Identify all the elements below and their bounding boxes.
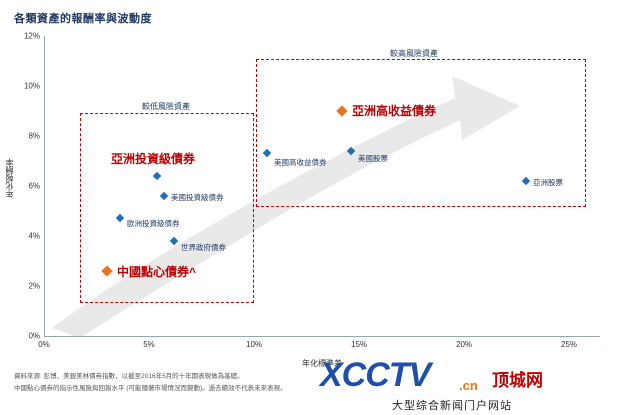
point-label: 亞洲股票 xyxy=(533,177,563,188)
y-axis xyxy=(44,36,45,336)
page-title: 各類資產的報酬率與波動度 xyxy=(14,10,152,26)
y-axis-label: 年化報酬率 xyxy=(4,158,15,198)
point-label: 世界政府債券 xyxy=(181,242,226,253)
watermark-domain: .cn xyxy=(459,378,478,393)
point-label: 美國高收益債券 xyxy=(274,157,327,168)
point-label: 歐洲投資級債券 xyxy=(127,218,180,229)
y-tick-5: 10% xyxy=(24,82,40,91)
point-label: 亞洲高收益債券 xyxy=(352,102,436,119)
watermark-subtitle: 大型综合新闻门户网站 xyxy=(392,397,512,413)
x-tick-0: 0% xyxy=(38,340,50,349)
y-tick-1: 2% xyxy=(28,282,40,291)
point-label: 美國股票 xyxy=(358,153,388,164)
y-tick-2: 4% xyxy=(28,232,40,241)
x-axis xyxy=(44,336,600,337)
plot-area: 較低風險資產 較高風險資產 0% 2% 4% 6% 8% 10% 12% 0% … xyxy=(0,28,620,348)
x-tick-1: 5% xyxy=(143,340,155,349)
annotation-high-risk: 較高風險資產 xyxy=(390,48,438,59)
y-tick-6: 12% xyxy=(24,32,40,41)
point-label: 中國點心債券^ xyxy=(117,263,196,280)
x-tick-2: 10% xyxy=(246,340,262,349)
point-label: 亞洲投資級債券 xyxy=(111,150,195,167)
footnote-line-2: 中國點心債券的指示性風險與回報水平 (可能隨著市場情況而變動)。過去績效不代表未… xyxy=(14,384,287,394)
chart-root: 各類資產的報酬率與波動度 較低風險資產 較高風險資產 0% 2% 4% 6% 8… xyxy=(0,0,620,415)
point-label: 美國投資級債券 xyxy=(171,192,224,203)
watermark-brand: XCCTV xyxy=(320,356,430,395)
annotation-low-risk: 較低風險資產 xyxy=(142,101,190,112)
y-tick-4: 8% xyxy=(28,132,40,141)
watermark-cn-name: 顶城网 xyxy=(492,366,543,391)
watermark: XCCTV .cn 顶城网 大型综合新闻门户网站 xyxy=(320,345,620,415)
footnote-line-1: 資料來源: 彭博、美銀美林債券指數，以截至2016年5月的十年期表現做為基礎。 xyxy=(14,372,244,382)
y-tick-3: 6% xyxy=(28,182,40,191)
